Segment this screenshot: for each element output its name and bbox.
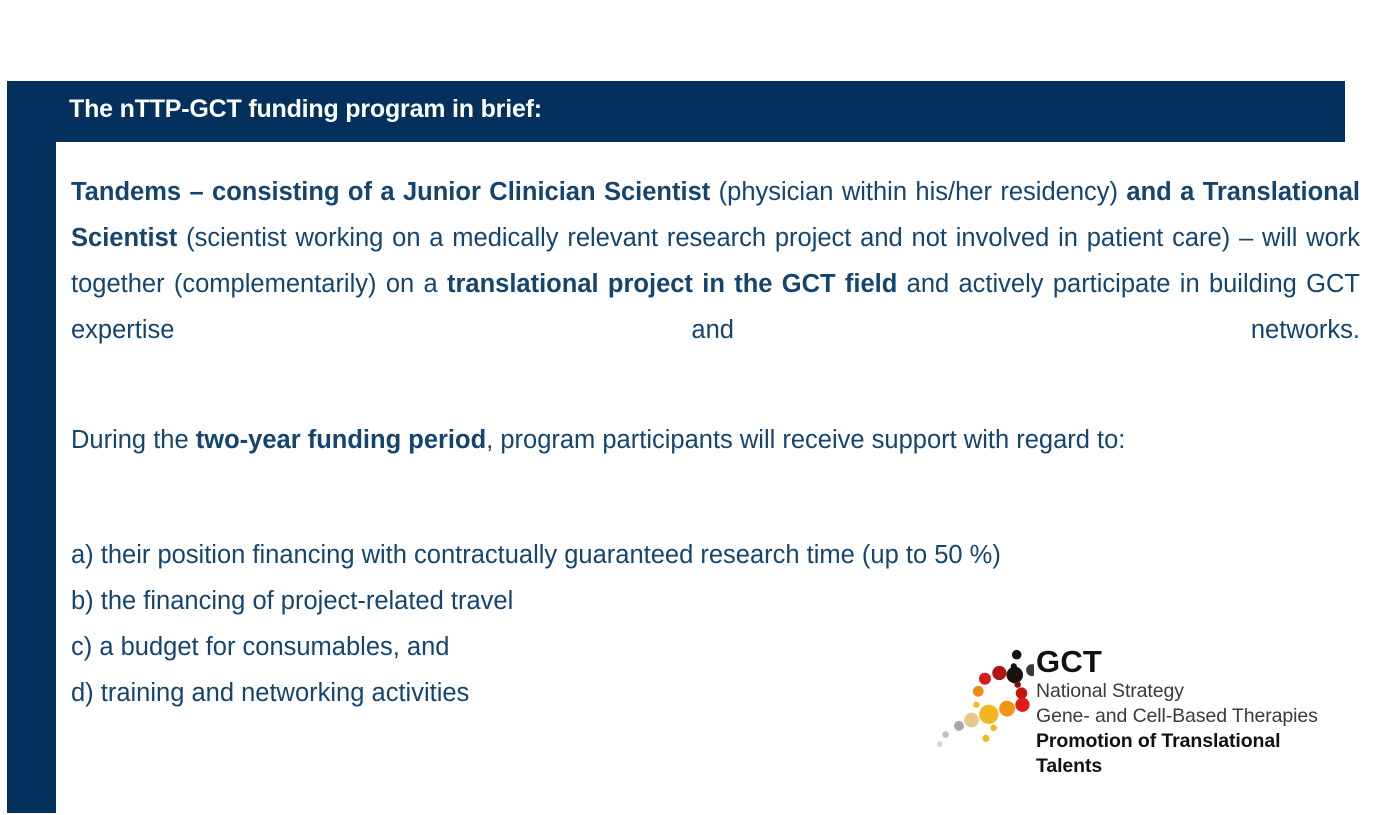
logo-dot bbox=[982, 735, 989, 742]
list-item: b) the financing of project-related trav… bbox=[71, 578, 1360, 624]
logo-dot bbox=[1026, 664, 1034, 676]
logo-dot bbox=[937, 741, 943, 747]
text-run-0: Tandems – consisting of a Junior Clinici… bbox=[71, 178, 710, 206]
gct-logo: GCT National Strategy Gene- and Cell-Bas… bbox=[934, 643, 1344, 758]
logo-dot bbox=[1012, 650, 1022, 660]
gct-dot-spiral-logomark-icon bbox=[934, 643, 1034, 753]
logo-dot bbox=[973, 702, 979, 708]
text-run-4: translational project in the GCT field bbox=[447, 270, 897, 298]
logo-dot bbox=[992, 666, 1006, 680]
logo-dot bbox=[1014, 681, 1021, 688]
logo-dot bbox=[979, 705, 998, 724]
logo-dot bbox=[1015, 698, 1029, 712]
gct-acronym: GCT bbox=[1036, 645, 1341, 679]
slide-root: The nTTP-GCT funding program in brief: T… bbox=[0, 0, 1381, 815]
text-run-2: , program participants will receive supp… bbox=[486, 426, 1125, 454]
paragraph-funding-period: During the two-year funding period, prog… bbox=[71, 417, 1360, 463]
gct-tagline-2: Gene- and Cell-Based Therapies bbox=[1036, 704, 1341, 729]
left-accent-bar bbox=[7, 81, 56, 813]
logo-dot bbox=[964, 713, 979, 728]
logo-dot bbox=[942, 731, 949, 738]
logo-dot bbox=[999, 701, 1015, 717]
logo-dot bbox=[990, 725, 997, 732]
gct-tagline-3: Promotion of Translational Talents bbox=[1036, 729, 1341, 779]
text-run-1: (physician within his/her residency) bbox=[710, 178, 1126, 206]
text-run-0: During the bbox=[71, 426, 196, 454]
paragraph-tandems: Tandems – consisting of a Junior Clinici… bbox=[71, 169, 1360, 399]
page-title: The nTTP-GCT funding program in brief: bbox=[69, 95, 542, 124]
logo-dot bbox=[954, 721, 964, 731]
content-area: Tandems – consisting of a Junior Clinici… bbox=[56, 142, 1356, 813]
text-run-1: two-year funding period bbox=[196, 426, 486, 454]
logo-dot bbox=[1007, 667, 1024, 684]
list-item: a) their position financing with contrac… bbox=[71, 532, 1360, 578]
logo-dot bbox=[973, 686, 984, 697]
gct-tagline-1: National Strategy bbox=[1036, 679, 1341, 704]
logo-dot bbox=[979, 673, 991, 685]
header-band: The nTTP-GCT funding program in brief: bbox=[7, 81, 1345, 142]
gct-logo-text: GCT National Strategy Gene- and Cell-Bas… bbox=[1036, 645, 1341, 779]
logo-dot bbox=[1016, 687, 1028, 699]
